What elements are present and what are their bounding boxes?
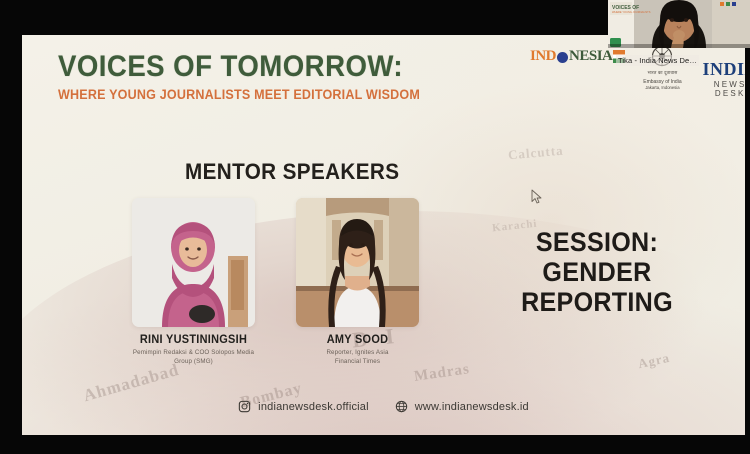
- speaker-role-line2: Financial Times: [335, 358, 380, 365]
- presentation-slide: Ahmadabad Bombay Madras Calcutta Agra D …: [22, 35, 745, 435]
- website-item: www.indianewsdesk.id: [395, 400, 529, 413]
- session-topic: GENDER REPORTING: [471, 257, 722, 317]
- instagram-handle-text: indianewsdesk.official: [258, 401, 369, 413]
- indonesia-logo-text-part1: IND: [530, 49, 556, 64]
- speaker-role-line2: Group (SMG): [174, 358, 213, 365]
- globe-icon: [395, 400, 408, 413]
- slide-title: VOICES OF TOMORROW:: [58, 51, 416, 83]
- mouse-cursor: [531, 189, 543, 205]
- mentor-speakers-heading: MENTOR SPEAKERS: [185, 159, 399, 185]
- slide-headline: VOICES OF TOMORROW: WHERE YOUNG JOURNALI…: [58, 51, 447, 102]
- speaker-role-line1: Reporter, Ignites Asia: [326, 349, 388, 356]
- speaker-role: Reporter, Ignites Asia Financial Times: [296, 349, 419, 367]
- website-text: www.indianewsdesk.id: [415, 401, 529, 413]
- instagram-handle-item: indianewsdesk.official: [238, 400, 369, 413]
- participant-name-label: Tika - India News De…: [616, 55, 699, 66]
- slide-subtitle: WHERE YOUNG JOURNALISTS MEET EDITORIAL W…: [58, 87, 420, 102]
- india-news-desk-title: INDIA: [700, 60, 746, 78]
- speaker-list: RINI YUSTININGSIH Pemimpin Redaksi & COO…: [132, 198, 419, 367]
- speaker-photo-amy: [296, 198, 419, 327]
- speaker-photo-rini: [132, 198, 255, 327]
- india-news-desk-subtitle: NEWS DESK: [700, 80, 746, 98]
- embassy-hindi-text: भारत का दूतावास: [634, 70, 690, 76]
- speaker-card: RINI YUSTININGSIH Pemimpin Redaksi & COO…: [132, 198, 255, 367]
- embassy-location-text: Jakarta, Indonesia: [634, 85, 690, 90]
- slide-footer: indianewsdesk.official www.indianewsdesk…: [22, 400, 745, 413]
- india-news-desk-logo: INDIA NEWS DESK: [700, 41, 746, 98]
- svg-text:WHERE YOUNG JOURNALISTS: WHERE YOUNG JOURNALISTS: [612, 10, 651, 14]
- speaker-name: AMY SOOD: [299, 334, 416, 346]
- indonesia-logo-text-part2: NESIA: [569, 49, 612, 64]
- session-label: SESSION:: [471, 227, 722, 257]
- speaker-role: Pemimpin Redaksi & COO Solopos Media Gro…: [132, 349, 255, 367]
- speaker-card: AMY SOOD Reporter, Ignites Asia Financia…: [296, 198, 419, 367]
- participant-video-tile[interactable]: VOICES OF WHERE YOUNG JOURNALISTS: [608, 0, 750, 48]
- logo-strip: IND NESIA: [530, 41, 745, 98]
- instagram-icon: [238, 400, 251, 413]
- ashoka-chakra-dot-icon: [557, 52, 568, 63]
- speaker-name: RINI YUSTININGSIH: [135, 334, 252, 346]
- session-title-block: SESSION: GENDER REPORTING: [471, 227, 722, 318]
- screen-share-view: Ahmadabad Bombay Madras Calcutta Agra D …: [0, 0, 750, 454]
- speaker-role-line1: Pemimpin Redaksi & COO Solopos Media: [133, 349, 254, 356]
